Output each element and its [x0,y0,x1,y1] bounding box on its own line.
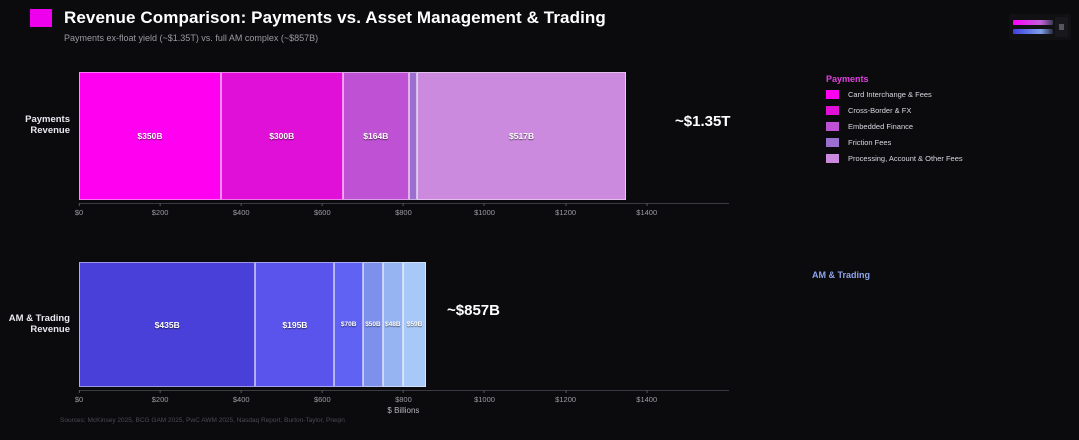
axis-tick-label: $1000 [474,208,495,217]
axis-tick-label: $1000 [474,395,495,404]
bar-segment[interactable]: $195B [255,262,334,387]
am-total-label: ~$857B [447,302,500,319]
axis-tick: $800 [395,390,412,404]
axis-tick: $1000 [474,203,495,217]
axis-tick-mark [79,203,80,206]
am-x-axis: $ Billions $0$200$400$600$800$1000$1200$… [79,390,729,410]
am-trading-chart: AM & Trading Revenue $435B$195B$70B$50B$… [0,248,800,423]
axis-tick: $1400 [636,390,657,404]
bar-segment[interactable]: $50B [363,262,383,387]
legend-item[interactable]: Processing, Account & Other Fees [826,154,963,163]
payments-x-axis: $0$200$400$600$800$1000$1200$1400 [79,203,729,223]
payments-chart: Payments Revenue $350B$300B$164B$19B$517… [0,58,800,223]
axis-tick-mark [160,203,161,206]
mini-bar-payments [1013,20,1053,25]
axis-tick-mark [403,390,404,393]
legend-swatch-icon [826,138,839,147]
payments-stacked-bar[interactable]: $350B$300B$164B$19B$517B [79,72,626,200]
title-swatch-icon [30,9,52,27]
axis-tick: $600 [314,203,331,217]
am-y-axis-label: AM & Trading Revenue [0,313,70,335]
axis-tick-mark [241,390,242,393]
bar-segment[interactable]: $70B [334,262,362,387]
axis-tick-mark [565,390,566,393]
axis-tick-mark [322,390,323,393]
page-title: Revenue Comparison: Payments vs. Asset M… [64,8,606,28]
legend-item[interactable]: Cross-Border & FX [826,106,963,115]
chart-page: Revenue Comparison: Payments vs. Asset M… [0,0,1079,440]
axis-tick: $800 [395,203,412,217]
bar-segment[interactable]: $435B [79,262,255,387]
axis-tick-label: $0 [75,208,83,217]
axis-tick-mark [646,390,647,393]
bar-segment-label: $59B [407,321,423,328]
axis-tick: $400 [233,390,250,404]
bar-segment[interactable]: $19B [409,72,417,200]
legend-item[interactable]: Card Interchange & Fees [826,90,963,99]
bar-segment-label: $48B [385,321,401,328]
payments-y-axis-label: Payments Revenue [0,114,70,136]
bar-segment-label: $435B [155,320,180,330]
legend-item-label: Friction Fees [848,138,891,147]
axis-tick-mark [646,203,647,206]
bar-segment[interactable]: $48B [383,262,402,387]
legend-item[interactable]: Friction Fees [826,138,963,147]
axis-tick-label: $200 [152,208,169,217]
axis-tick-label: $800 [395,208,412,217]
axis-tick-label: $1200 [555,395,576,404]
axis-tick-mark [565,203,566,206]
bar-segment[interactable]: $59B [403,262,427,387]
axis-tick: $1200 [555,390,576,404]
legend-item[interactable]: Embedded Finance [826,122,963,131]
legend-item-label: Card Interchange & Fees [848,90,932,99]
mini-bar-am [1013,29,1053,34]
mini-legend-bars [1009,20,1055,34]
axis-tick-mark [484,390,485,393]
legend-swatch-icon [826,154,839,163]
payments-legend: Payments Card Interchange & FeesCross-Bo… [826,74,963,170]
am-plot: $435B$195B$70B$50B$48B$59B [79,262,667,387]
axis-tick-mark [160,390,161,393]
axis-tick-mark [484,203,485,206]
axis-tick-label: $600 [314,395,331,404]
bar-segment[interactable]: $350B [79,72,221,200]
bar-segment-label: $195B [282,320,307,330]
axis-tick-mark [322,203,323,206]
legend-swatch-icon [826,106,839,115]
legend-swatch-icon [826,122,839,131]
am-stacked-bar[interactable]: $435B$195B$70B$50B$48B$59B [79,262,426,387]
axis-tick-label: $200 [152,395,169,404]
bar-segment-label: $164B [363,131,388,141]
axis-tick: $400 [233,203,250,217]
axis-tick-label: $1400 [636,208,657,217]
axis-tick: $1200 [555,203,576,217]
axis-tick-label: $1400 [636,395,657,404]
bar-segment[interactable]: $300B [221,72,343,200]
header: Revenue Comparison: Payments vs. Asset M… [0,0,1079,58]
title-row: Revenue Comparison: Payments vs. Asset M… [30,8,606,28]
axis-tick-label: $400 [233,208,250,217]
payments-plot: $350B$300B$164B$19B$517B [79,72,667,200]
axis-tick: $200 [152,203,169,217]
axis-tick: $200 [152,390,169,404]
bar-segment-label: $70B [341,321,357,328]
payments-legend-title: Payments [826,74,963,84]
axis-tick: $1400 [636,203,657,217]
mini-widget-button-icon[interactable] [1055,17,1068,37]
legend-item-label: Embedded Finance [848,122,913,131]
legend-item-label: Cross-Border & FX [848,106,911,115]
x-axis-title: $ Billions [387,406,419,415]
am-legend-title: AM & Trading [812,270,870,280]
bar-segment-label: $300B [269,131,294,141]
page-subtitle: Payments ex-float yield (~$1.35T) vs. fu… [64,33,318,43]
axis-tick: $600 [314,390,331,404]
bar-segment-label: $350B [137,131,162,141]
bar-segment-label: $50B [365,321,381,328]
axis-tick-label: $0 [75,395,83,404]
axis-tick: $0 [75,390,83,404]
axis-tick-label: $1200 [555,208,576,217]
bar-segment[interactable]: $164B [343,72,410,200]
axis-tick-label: $600 [314,208,331,217]
legend-swatch-icon [826,90,839,99]
axis-tick-mark [241,203,242,206]
axis-tick: $1000 [474,390,495,404]
sources-footnote: Sources: McKinsey 2025, BCG GAM 2025, Pw… [60,417,345,424]
axis-tick-label: $400 [233,395,250,404]
axis-tick: $0 [75,203,83,217]
axis-tick-label: $800 [395,395,412,404]
bar-segment-label: $517B [509,131,534,141]
bar-segment[interactable]: $517B [417,72,627,200]
payments-total-label: ~$1.35T [675,113,730,130]
mini-legend-widget[interactable] [1009,14,1071,40]
am-trading-legend: AM & Trading [812,270,870,286]
axis-tick-mark [79,390,80,393]
legend-item-label: Processing, Account & Other Fees [848,154,963,163]
axis-tick-mark [403,203,404,206]
